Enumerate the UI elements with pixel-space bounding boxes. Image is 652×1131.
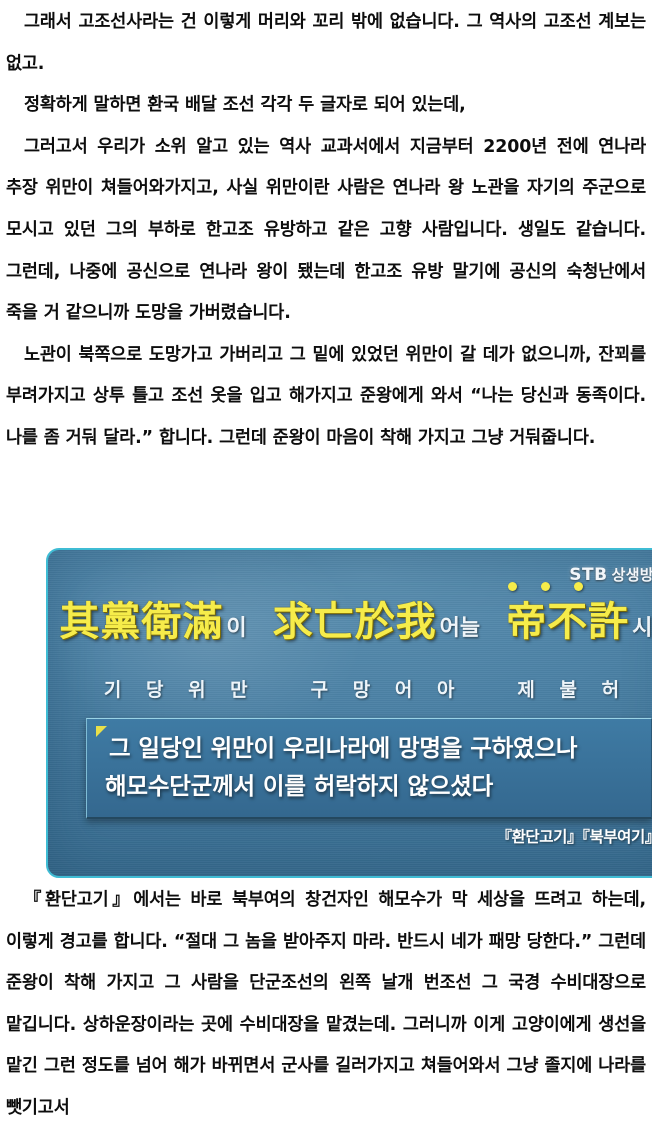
pronunciation-3: 제 불 허 [517, 675, 628, 702]
hanja-text: 求亡於我 [273, 602, 437, 642]
paragraph: 그래서 고조선사라는 건 이렇게 머리와 꼬리 밖에 없습니다. 그 역사의 고… [6, 2, 646, 85]
paragraph: 정확하게 말하면 환국 배달 조선 각각 두 글자로 되어 있는데, [6, 85, 646, 127]
paragraph: 그러고서 우리가 소위 알고 있는 역사 교과서에서 지금부터 2200년 전에… [6, 127, 646, 335]
top-text-block: 그래서 고조선사라는 건 이렇게 머리와 꼬리 밖에 없습니다. 그 역사의 고… [0, 2, 652, 460]
hanja-text: 帝不許 [506, 602, 629, 642]
caption-line: 그 일당인 위만이 우리나라에 망명을 구하였으나 [105, 729, 637, 767]
stb-logo-mark: STB [569, 565, 607, 585]
pronunciation-1: 기 당 위 만 [104, 675, 257, 702]
hanja-suffix: 이 [226, 618, 246, 640]
stb-channel-logo: STB상생방송 [569, 564, 652, 585]
hanja-group-2: 求亡於我 어늘 [273, 602, 480, 642]
hanja-text: 其黨衛滿 [59, 602, 223, 642]
source-citation: 『환단고기』『북부여기』 [496, 825, 652, 847]
document-page: 그래서 고조선사라는 건 이렇게 머리와 꼬리 밖에 없습니다. 그 역사의 고… [0, 0, 652, 1131]
pronunciation-2: 구 망 어 아 [311, 675, 464, 702]
hanja-suffix: 시라 [632, 618, 652, 640]
stb-logo-name: 상생방송 [612, 566, 652, 584]
hanja-suffix: 어늘 [440, 618, 480, 640]
bottom-text-block: 『환단고기』에서는 바로 북부여의 창건자인 해모수가 막 세상을 뜨려고 하는… [0, 880, 652, 1130]
caption-line: 해모수단군께서 이를 허락하지 않으셨다 [105, 767, 637, 805]
broadcast-still-figure: STB상생방송 其黨衛滿 이 求亡於我 어늘 帝不許 시라 [46, 548, 652, 878]
hanja-headline-row: 其黨衛滿 이 求亡於我 어늘 帝不許 시라 [48, 602, 652, 642]
paragraph: 『환단고기』에서는 바로 북부여의 창건자인 해모수가 막 세상을 뜨려고 하는… [6, 880, 646, 1130]
broadcast-frame: STB상생방송 其黨衛滿 이 求亡於我 어늘 帝不許 시라 [46, 548, 652, 878]
hanja-group-3: 帝不許 시라 [506, 602, 652, 642]
translation-caption-box: 그 일당인 위만이 우리나라에 망명을 구하였으나 해모수단군께서 이를 허락하… [86, 718, 652, 819]
hanja-group-1: 其黨衛滿 이 [59, 602, 246, 642]
pronunciation-row: 기 당 위 만 구 망 어 아 제 불 허 [48, 675, 652, 702]
paragraph: 노관이 북쪽으로 도망가고 가버리고 그 밑에 있었던 위만이 갈 데가 없으니… [6, 335, 646, 460]
